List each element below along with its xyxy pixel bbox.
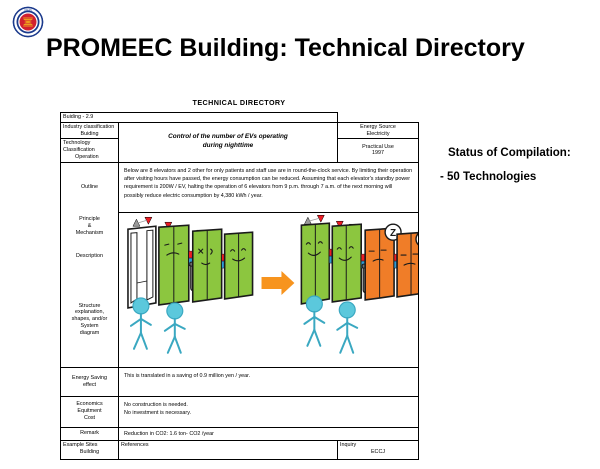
industry-classification-label: Industry classification <box>63 124 116 131</box>
economics-line1: No construction is needed. <box>124 401 413 409</box>
table-row-principle: Principle & Mechanism <box>61 213 419 241</box>
row-label-remark: Remark <box>61 427 119 440</box>
table-row-economics: Economics Equitment Cost No construction… <box>61 396 419 427</box>
energy-source-value: Electricity <box>340 131 416 138</box>
svg-text:Z: Z <box>390 228 396 239</box>
row-label-principle-line1: Principle <box>63 216 116 223</box>
page-title: PROMEEC Building: Technical Directory <box>46 34 525 63</box>
row-label-structure: Structure explanation, shapes, and/or Sy… <box>61 273 119 368</box>
technology-title-line1: Control of the number of EVs operating <box>121 133 335 142</box>
footer-inquiry-value: ECCJ <box>340 449 416 456</box>
row-label-structure-line4: System <box>63 323 116 330</box>
status-of-compilation-block: Status of Compilation: - 50 Technologies <box>448 147 598 183</box>
economics-line2: No investment is necessary. <box>124 409 413 417</box>
asean-logo: ASEAN <box>12 6 44 38</box>
technology-title-line2: during nighttime <box>121 142 335 151</box>
elevator-operation-diagram: Z <box>119 213 418 361</box>
footer-references-label: References <box>121 442 335 449</box>
row-label-principle-line2: & <box>63 223 116 230</box>
table-row-industry: Industry classification Buiding Control … <box>61 122 419 139</box>
row-label-economics-line2: Equitment <box>63 408 116 415</box>
row-label-principle: Principle & Mechanism <box>61 213 119 241</box>
table-row-footer: Example Sites Building References Inquir… <box>61 440 419 459</box>
technical-directory-sheet: TECHNICAL DIRECTORY Buiding - 2.9 Indust… <box>60 98 418 460</box>
energy-source-cell: Energy Source Electricity <box>338 122 419 139</box>
practical-use-value: 1997 <box>340 150 416 157</box>
technical-directory-table: Buiding - 2.9 Industry classification Bu… <box>60 112 419 460</box>
row-label-structure-line5: diagram <box>63 330 116 337</box>
table-row-code: Buiding - 2.9 <box>61 113 419 123</box>
row-label-energy-saving-line1: Energy Saving <box>63 375 116 382</box>
industry-classification-value: Buiding <box>63 131 116 138</box>
diagram-cell: Z <box>119 213 419 368</box>
status-technologies-count: - 50 Technologies <box>440 171 598 183</box>
sheet-code-cell: Buiding - 2.9 <box>61 113 338 123</box>
footer-example-sites-label: Example Sites <box>63 442 116 449</box>
row-label-description: Description <box>61 241 119 273</box>
energy-saving-text: This is translated in a saving of 0.9 mi… <box>119 367 419 396</box>
row-label-energy-saving: Energy Saving effect <box>61 367 119 396</box>
table-row-outline: Outline Below are 8 elevators and 2 othe… <box>61 162 419 213</box>
row-label-economics-line3: Cost <box>63 415 116 422</box>
practical-use-cell: Practical Use 1997 <box>338 139 419 162</box>
row-label-principle-line3: Mechanism <box>63 230 116 237</box>
technology-title-cell: Control of the number of EVs operating d… <box>119 122 338 162</box>
row-label-economics-line1: Economics <box>63 401 116 408</box>
sheet-caption: TECHNICAL DIRECTORY <box>60 98 418 107</box>
practical-use-label: Practical Use <box>340 144 416 151</box>
footer-example-sites-cell: Example Sites Building <box>61 440 119 459</box>
technology-classification-label: Technology Classification <box>63 140 116 154</box>
footer-inquiry-cell: Inquiry ECCJ <box>338 440 419 459</box>
remark-text: Reduction in CO2: 1.6 ton- CO2 /year <box>119 427 419 440</box>
table-row-energy-saving: Energy Saving effect This is translated … <box>61 367 419 396</box>
status-heading: Status of Compilation: <box>448 147 598 159</box>
footer-references-cell: References <box>119 440 338 459</box>
row-label-structure-line3: shapes, and/or <box>63 316 116 323</box>
transition-arrow <box>262 271 295 295</box>
footer-inquiry-label: Inquiry <box>340 442 416 449</box>
footer-example-sites-value: Building <box>63 449 116 456</box>
outline-text: Below are 8 elevators and 2 other for on… <box>119 162 419 213</box>
table-row-remark: Remark Reduction in CO2: 1.6 ton- CO2 /y… <box>61 427 419 440</box>
row-label-structure-line1: Structure <box>63 303 116 310</box>
row-label-energy-saving-line2: effect <box>63 382 116 389</box>
row-label-outline: Outline <box>61 162 119 213</box>
economics-text: No construction is needed. No investment… <box>119 396 419 427</box>
technology-classification-value: Operation <box>63 154 116 161</box>
energy-source-label: Energy Source <box>340 124 416 131</box>
row-label-structure-line2: explanation, <box>63 309 116 316</box>
row-label-economics: Economics Equitment Cost <box>61 396 119 427</box>
